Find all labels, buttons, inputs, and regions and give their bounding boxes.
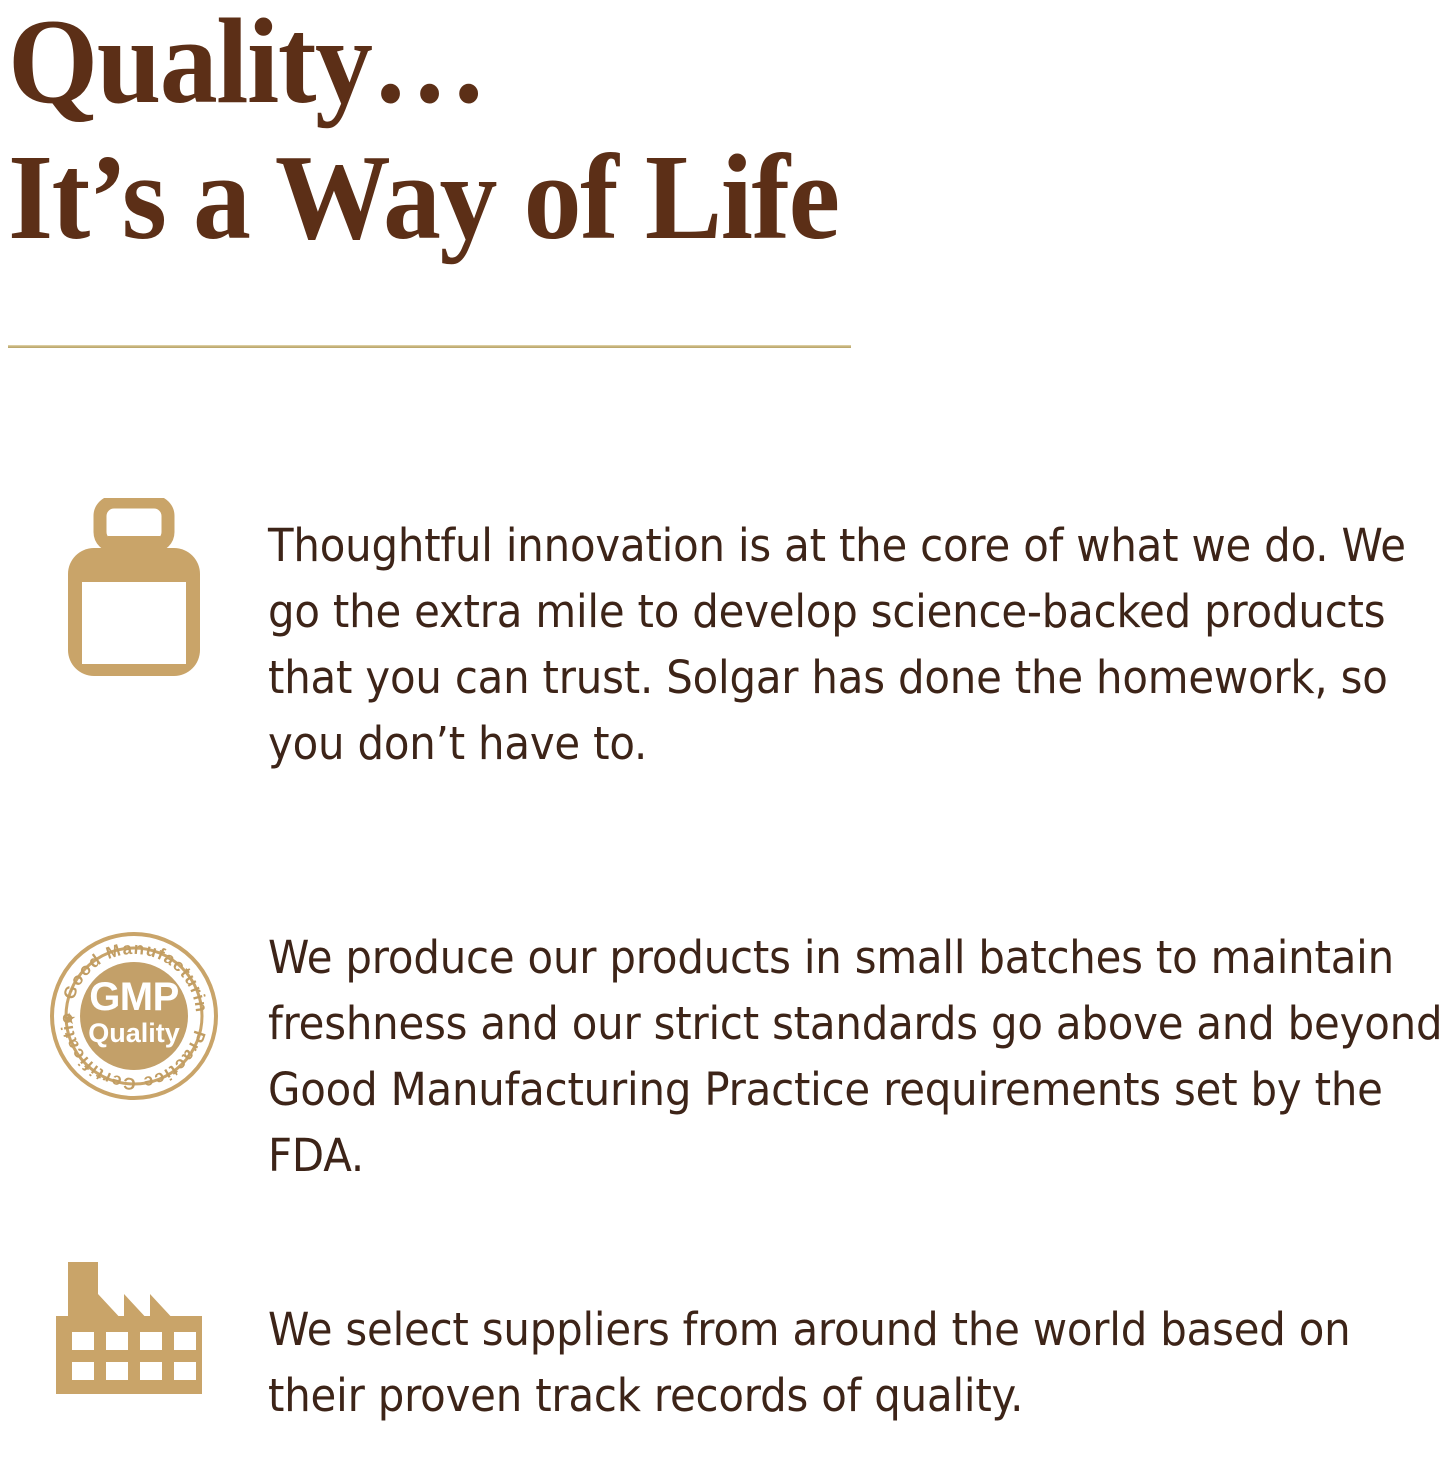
quality-promo-page: Quality… It’s a Way of Life Thoughtful i… (0, 0, 1445, 1413)
text-column: We produce our products in small batches… (268, 880, 1445, 1235)
gmp-quality-seal-icon: Good Manufacturing Practice Certificatio… (46, 928, 222, 1104)
factory-icon (54, 1260, 214, 1400)
supplement-bottle-icon (60, 498, 208, 680)
feature-row-gmp: Good Manufacturing Practice Certificatio… (0, 880, 1445, 1235)
feature-text-suppliers: We select suppliers from around the worl… (268, 1297, 1444, 1429)
svg-text:GMP: GMP (89, 975, 179, 1019)
feature-text-gmp: We produce our products in small batches… (268, 925, 1444, 1190)
icon-column (0, 1252, 268, 1400)
icon-column (0, 468, 268, 680)
feature-text-innovation: Thoughtful innovation is at the core of … (268, 513, 1444, 778)
icon-column: Good Manufacturing Practice Certificatio… (0, 880, 268, 1104)
page-title-line-2: It’s a Way of Life (8, 138, 1053, 258)
page-title-line-1: Quality… (8, 2, 1053, 122)
svg-text:Quality: Quality (88, 1018, 180, 1048)
page-title: Quality… It’s a Way of Life (8, 2, 1108, 257)
svg-text:★: ★ (62, 1011, 76, 1028)
text-column: We select suppliers from around the worl… (268, 1252, 1445, 1474)
feature-row-suppliers: We select suppliers from around the worl… (0, 1252, 1445, 1474)
title-divider (8, 345, 851, 348)
text-column: Thoughtful innovation is at the core of … (268, 468, 1445, 823)
feature-row-innovation: Thoughtful innovation is at the core of … (0, 468, 1445, 823)
